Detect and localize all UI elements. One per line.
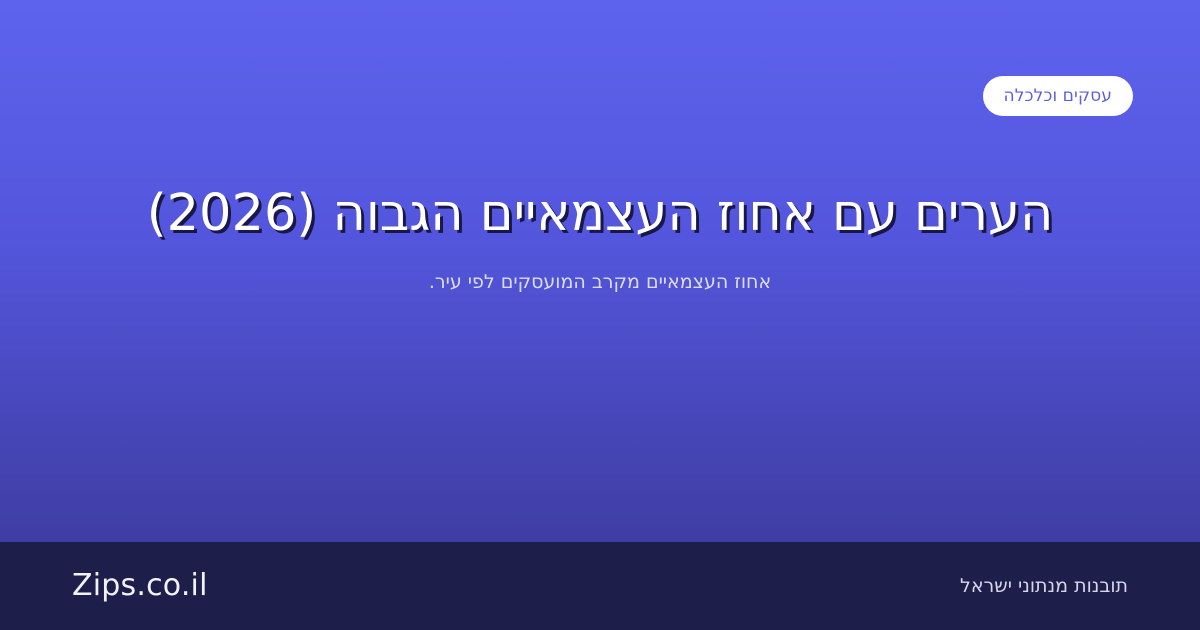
site-wordmark[interactable]: Zips.co.il [72, 571, 208, 601]
category-badge[interactable]: עסקים וכלכלה [983, 76, 1133, 116]
og-share-card: עסקים וכלכלה הערים עם אחוז העצמאיים הגבו… [0, 0, 1200, 630]
footer-tagline: תובנות מנתוני ישראל [960, 577, 1128, 596]
hero-section: הערים עם אחוז העצמאיים הגבוה (2026) אחוז… [72, 183, 1128, 296]
page-subtitle: אחוז העצמאיים מקרב המועסקים לפי עיר. [72, 269, 1128, 296]
page-title: הערים עם אחוז העצמאיים הגבוה (2026) [72, 183, 1128, 245]
footer-bar: Zips.co.il תובנות מנתוני ישראל [0, 542, 1200, 630]
badge-row: עסקים וכלכלה [0, 76, 1133, 116]
